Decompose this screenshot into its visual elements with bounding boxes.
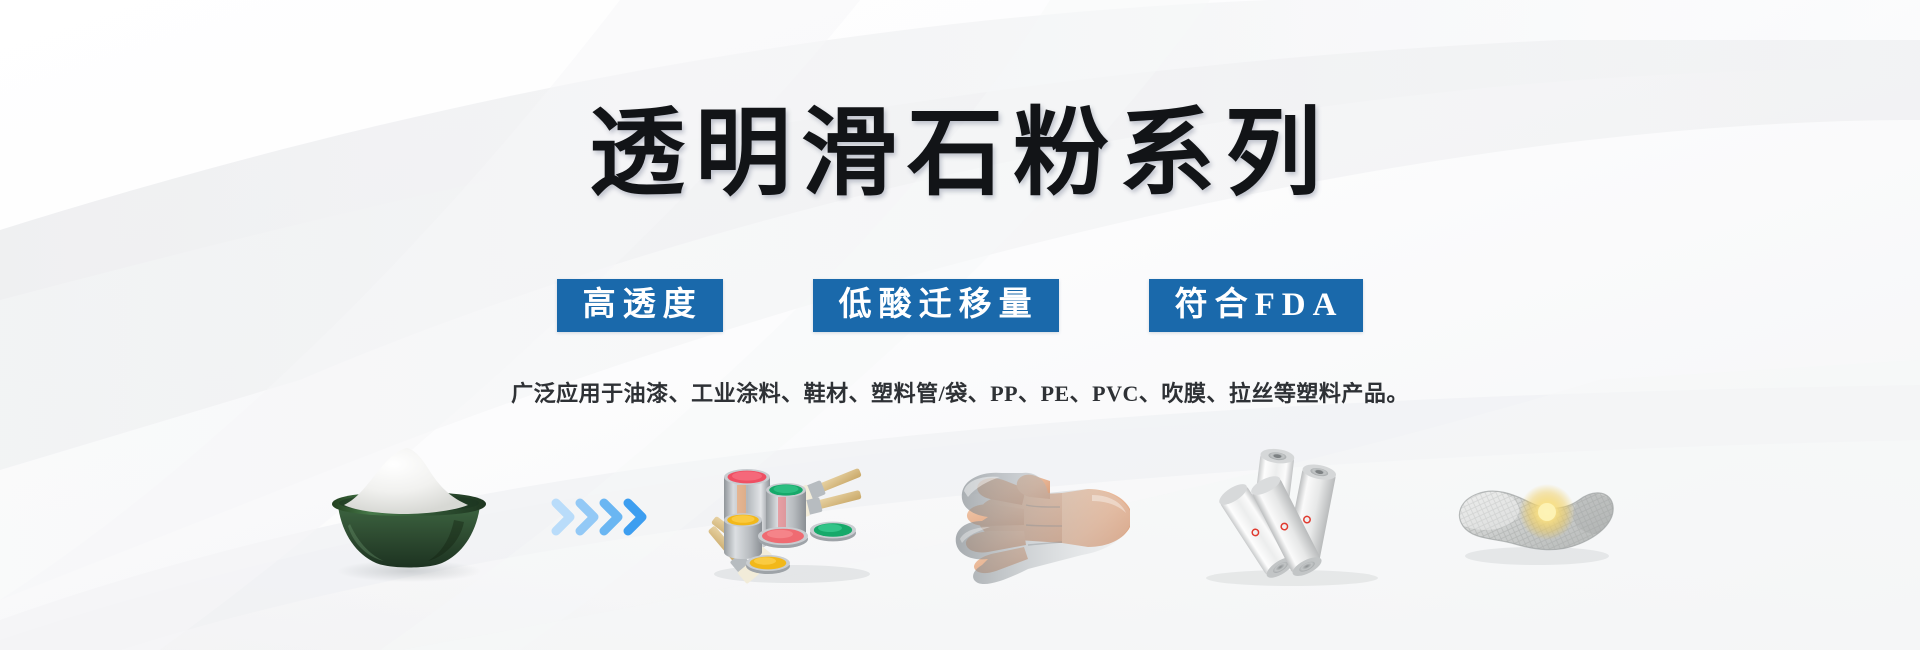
talc-powder-bowl-icon [304,442,514,592]
application-description: 广泛应用于油漆、工业涂料、鞋材、塑料管/袋、PP、PE、PVC、吹膜、拉丝等塑料… [511,376,1409,408]
paint-cans-image [702,442,882,592]
banner-subtitle-container: 广泛应用于油漆、工业涂料、鞋材、塑料管/袋、PP、PE、PVC、吹膜、拉丝等塑料… [0,376,1920,408]
shoe-sole-icon [1447,452,1617,582]
chevron-right-arrows-icon [548,487,668,547]
page-title: 透明滑石粉系列 [589,104,1331,205]
product-banner: 透明滑石粉系列 高透度 低酸迁移量 符合FDA 广泛应用于油漆、工业涂料、鞋材、… [0,0,1920,650]
badge-label: 高透度 [583,289,703,322]
status-badge-low-acid-migration[interactable]: 低酸迁移量 [813,279,1059,332]
flow-arrows [548,487,668,547]
plastic-film-rolls-image [1192,442,1392,592]
plastic-glove-hand-icon [942,447,1132,587]
feature-badge-list: 高透度 低酸迁移量 符合FDA [0,279,1920,332]
status-badge-high-transparency[interactable]: 高透度 [557,279,723,332]
talc-powder-bowl-image [304,442,514,592]
shoe-sole-image [1447,452,1617,582]
paint-cans-icon [702,442,882,592]
plastic-glove-hand-image [942,447,1132,587]
banner-title-container: 透明滑石粉系列 [0,104,1920,205]
status-badge-fda-compliant[interactable]: 符合FDA [1149,279,1364,332]
badge-label: 低酸迁移量 [839,289,1039,322]
badge-label: 符合FDA [1175,289,1344,322]
product-application-strip [0,432,1920,602]
plastic-film-rolls-icon [1192,442,1392,592]
